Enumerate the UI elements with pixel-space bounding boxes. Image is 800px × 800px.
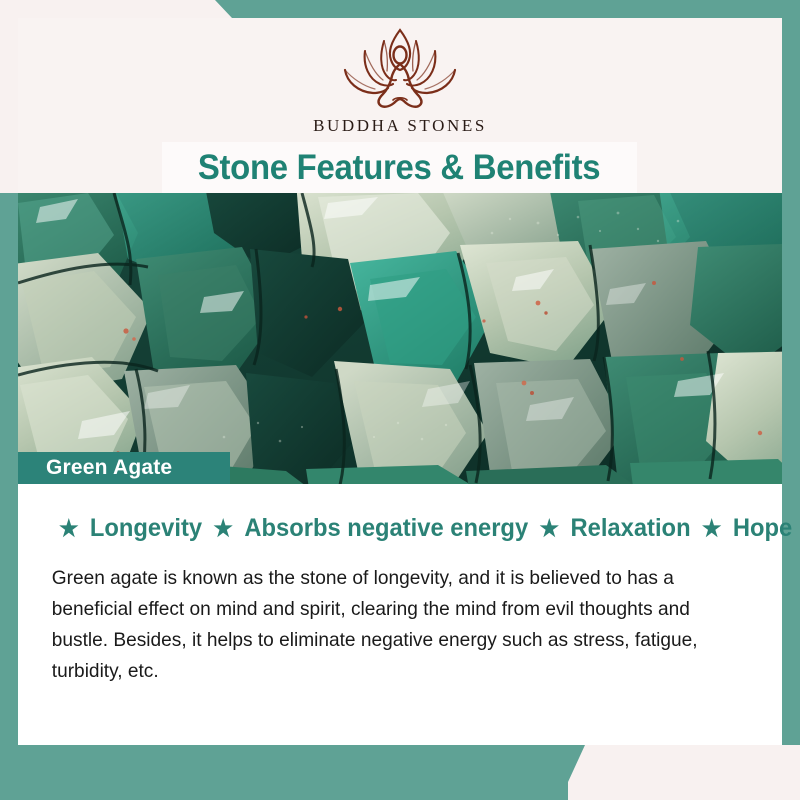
lotus-meditation-icon	[325, 24, 475, 112]
stone-photo	[18, 193, 782, 484]
star-icon-3: ★	[539, 515, 560, 541]
benefit-item-2: Absorbs negative energy	[241, 514, 532, 542]
stone-photo-graphic	[18, 193, 782, 484]
brand-name: BUDDHA STONES	[313, 116, 487, 136]
stone-name-ribbon: Green Agate	[18, 452, 230, 484]
stone-name-label: Green Agate	[46, 456, 172, 480]
brand-logo: BUDDHA STONES	[18, 24, 782, 136]
page-title: Stone Features & Benefits	[198, 148, 600, 188]
star-icon-4: ★	[701, 515, 722, 541]
benefits-list: ★ Longevity ★ Absorbs negative energy ★ …	[58, 514, 742, 543]
page-title-band: Stone Features & Benefits	[162, 142, 637, 193]
header: BUDDHA STONES Stone Features & Benefits	[18, 18, 782, 193]
frame-right-band	[782, 0, 800, 745]
star-icon-2: ★	[212, 515, 233, 541]
benefit-item-4: Hope	[729, 514, 796, 542]
benefit-item-3: Relaxation	[567, 514, 695, 542]
frame-left-band	[0, 193, 18, 800]
content-panel: ★ Longevity ★ Absorbs negative energy ★ …	[18, 484, 782, 745]
star-icon-1: ★	[58, 515, 79, 541]
stone-description: Green agate is known as the stone of lon…	[40, 563, 746, 687]
infographic-page: BUDDHA STONES Stone Features & Benefits	[0, 0, 800, 800]
benefit-item-1: Longevity	[86, 514, 206, 542]
frame-bottom-band	[0, 745, 800, 800]
